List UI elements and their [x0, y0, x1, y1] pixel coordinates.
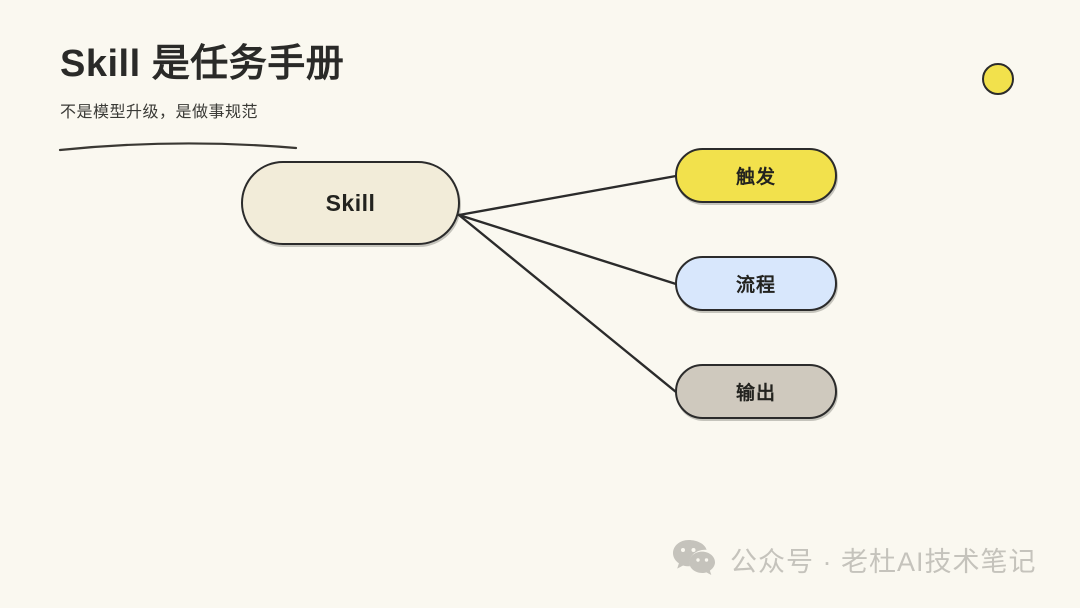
node-trigger[interactable]: 触发 [675, 148, 837, 203]
node-process[interactable]: 流程 [675, 256, 837, 311]
mindmap-diagram: Skill 触发 流程 输出 [0, 0, 1080, 608]
edge-skill-to-trigger [459, 176, 676, 215]
slide-canvas: Skill 是任务手册 不是模型升级，是做事规范 Skill 触发 流程 输出 [0, 0, 1080, 608]
wechat-icon [672, 538, 716, 581]
footer-watermark: 公众号 · 老杜AI技术笔记 [672, 538, 1037, 581]
edge-skill-to-output [459, 215, 676, 392]
node-skill[interactable]: Skill [241, 161, 460, 245]
footer-text: 公众号 · 老杜AI技术笔记 [730, 540, 1037, 579]
edge-skill-to-process [459, 215, 676, 284]
node-output[interactable]: 输出 [675, 364, 837, 419]
mindmap-edges [0, 0, 1080, 608]
